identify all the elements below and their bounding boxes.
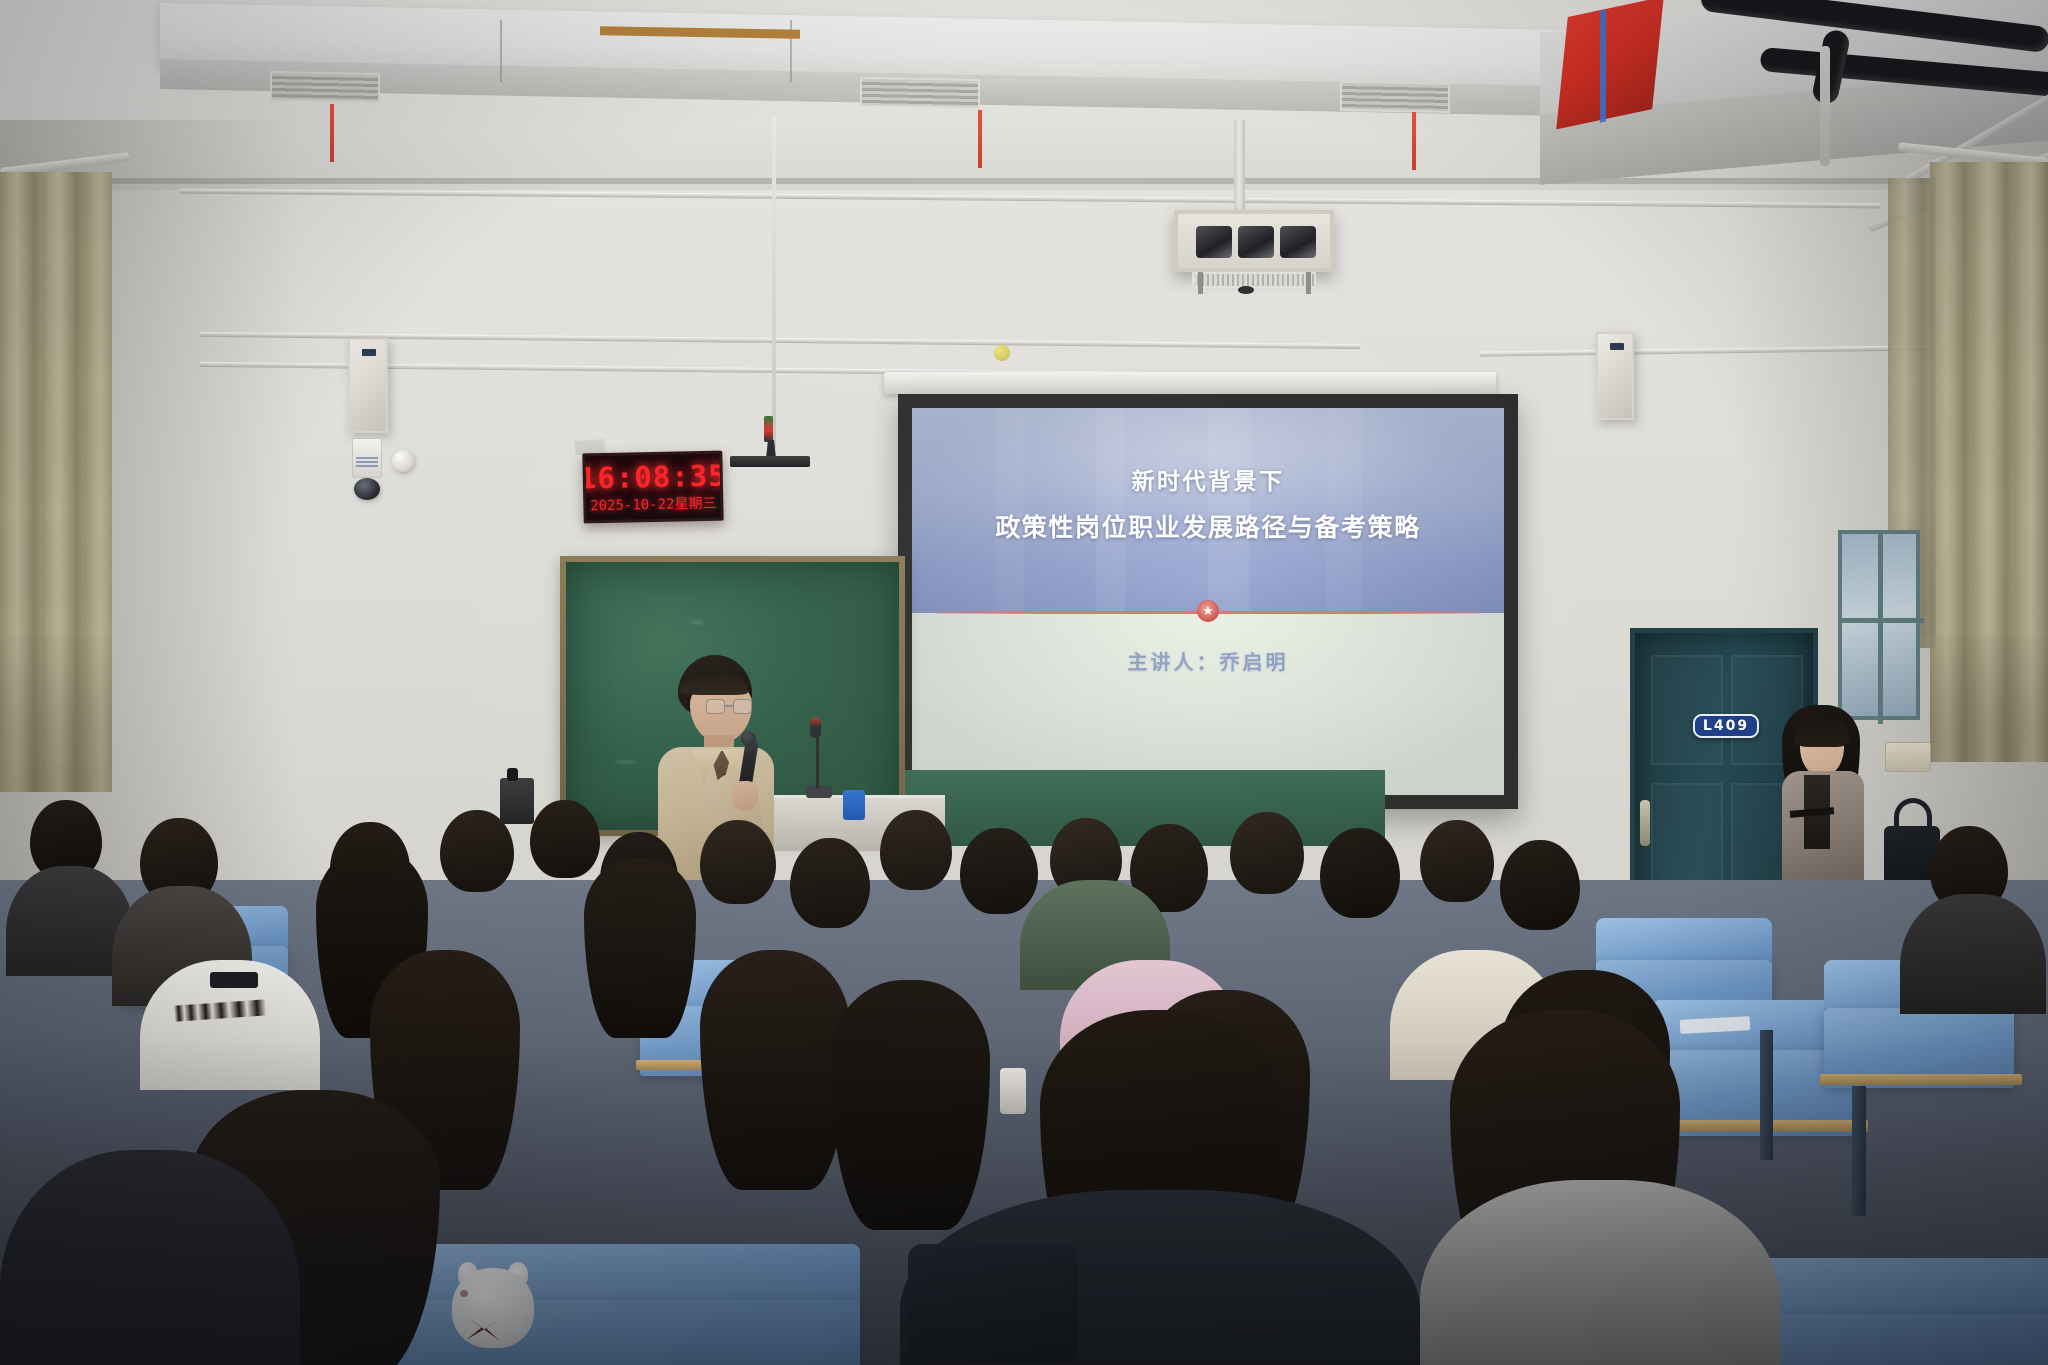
student-head [1320,828,1400,918]
led-clock-display: 16:08:35 2025-10-22星期三 [582,451,723,524]
duct-fabric-strap [1600,9,1606,122]
backpack [908,1244,1078,1364]
water-bottle-on-desk [1000,1068,1026,1114]
student-head [530,800,600,878]
slide-speaker-line: 主讲人：乔启明 [912,646,1504,675]
air-vent [270,71,380,103]
glasses-lens-right [733,699,752,714]
slide-lower-panel: 主讲人：乔启明 [912,613,1504,795]
curtain-left [0,172,112,792]
student-hair [584,858,696,1038]
star-glyph: ★ [1202,604,1214,617]
student-head [440,810,514,892]
air-vent [1340,81,1450,113]
desk-wood-edge [1820,1074,2022,1085]
lecture-hall-photo: 16:08:35 2025-10-22星期三 新时代背景下 政策性岗位职业发展路… [0,0,2048,1365]
window-mullion [1878,534,1883,724]
glasses-lens-left [706,699,725,714]
security-camera-body-left [352,438,382,478]
camera-label [356,457,378,467]
window-mullion [1842,618,1924,623]
airflow-ribbon [330,104,334,162]
wall-speaker-right [1596,332,1634,420]
student-shoulders [1900,894,2046,1014]
ceiling-dome-camera-left [392,450,414,472]
slide-upper-panel: 新时代背景下 政策性岗位职业发展路径与备考策略 [912,408,1504,613]
support-rail [1820,46,1830,166]
student-head [1420,820,1494,902]
amplifier-box [500,778,534,824]
standing-staff-figure [1768,705,1878,885]
student-head [1500,840,1580,930]
duct-seam [500,20,502,82]
presentation-slide: 新时代背景下 政策性岗位职业发展路径与备考策略 ★ 主讲人：乔启明 [912,408,1504,795]
room-number-text: L409 [1703,718,1749,734]
projection-screen-housing [884,372,1496,394]
gooseneck-mic-base [806,786,832,798]
gooseneck-mic-stem [816,730,819,788]
hanging-microphone-bar [730,456,810,467]
airflow-ribbon [978,110,982,168]
student-hair [700,950,850,1190]
desk-wood-edge [1648,1120,1868,1132]
student-head [880,810,952,890]
airflow-ribbon [1412,112,1416,170]
desk-leg [1852,1086,1866,1216]
projector-cage-window [1196,226,1232,258]
door-handle[interactable] [1640,800,1650,846]
student-head [700,820,776,904]
projector-bolt [1198,272,1203,294]
projector-bolt [1306,272,1311,294]
amplifier-knob [507,768,518,781]
air-vent [860,77,980,109]
slide-title-line-2: 政策性岗位职业发展路径与备考策略 [912,511,1504,546]
room-number-sign: L409 [1693,714,1759,738]
presenter-glasses [706,699,752,714]
student-hair [830,980,990,1230]
gooseneck-mic-head [810,718,821,738]
side-window [1838,530,1920,720]
presenter-hand [732,781,758,811]
hanging-mic-cable [772,118,776,448]
projector-mount-rod [1234,120,1245,216]
led-clock-time: 16:08:35 [582,461,723,493]
projector-cage-window [1238,226,1274,258]
projector-vent-grille [1192,272,1316,288]
student-head [790,838,870,928]
phone-on-desk [210,972,258,988]
chalk-dust [615,760,637,764]
chalk-dust [690,620,704,625]
speaker-badge-icon [362,349,376,356]
desk-leg [1760,1030,1773,1160]
led-clock-date: 2025-10-22星期三 [590,496,717,513]
door-panel [1651,655,1723,765]
plush-nose [460,1290,468,1297]
curtain-right [1930,162,2048,762]
plush-dog-toy [452,1268,534,1348]
student-head [960,828,1038,914]
tennis-ball-on-ledge [994,345,1010,361]
speaker-badge-icon [1610,343,1624,350]
water-bottle [843,790,865,820]
projection-screen-surface: 新时代背景下 政策性岗位职业发展路径与备考策略 ★ 主讲人：乔启明 [912,408,1504,795]
mic-cable-connector [764,416,773,442]
projector-cage-window [1280,226,1316,258]
wall-outlet-plate [1885,742,1931,772]
glasses-bridge [725,705,733,707]
star-icon: ★ [1197,600,1219,622]
projector-lens [1238,286,1254,294]
slide-title-block: 新时代背景下 政策性岗位职业发展路径与备考策略 [912,465,1504,545]
projector-cage [1174,210,1334,272]
slide-title-line-1: 新时代背景下 [912,465,1504,498]
wall-speaker-left [348,338,388,433]
student-head [1230,812,1304,894]
camera-lens-left [354,478,380,500]
